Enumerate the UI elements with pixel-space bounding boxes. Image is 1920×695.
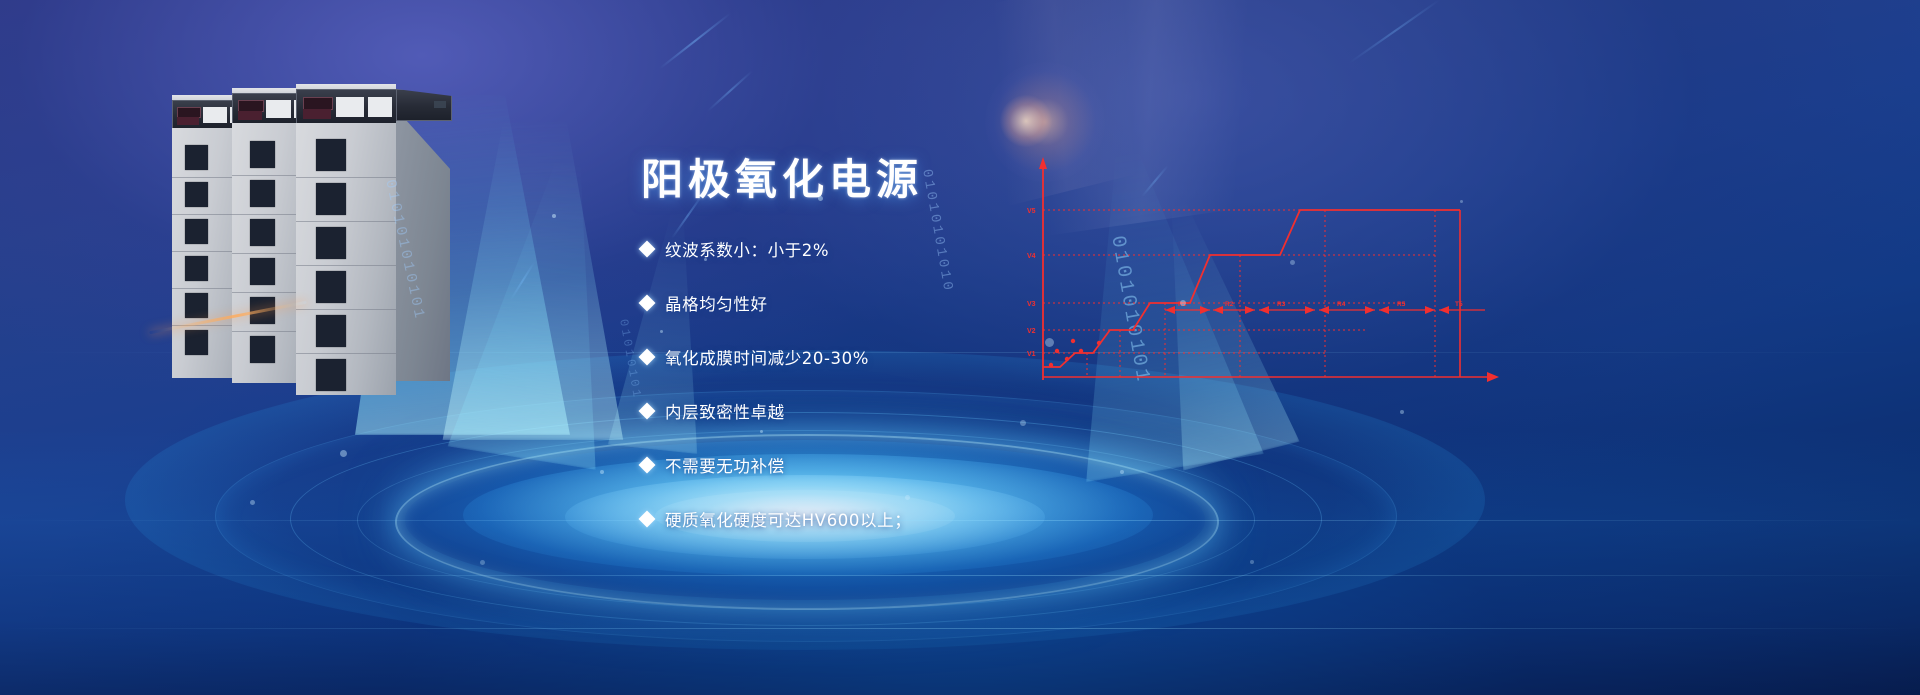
diamond-bullet-icon [639,403,656,420]
chart-ytick-v2: V2 [1027,328,1036,335]
chart-dim-r4: R4 [1337,301,1346,308]
particle [340,450,347,457]
diamond-bullet-icon [639,241,656,258]
chart-y-axis-arrow [1039,157,1047,169]
chart-svg: V5 V4 V3 V2 V1 [1015,155,1505,395]
page-title: 阳极氧化电源 [641,146,923,207]
chart-x-axis-arrow [1487,372,1499,382]
particle [600,470,604,474]
waveform-chart: V5 V4 V3 V2 V1 [1015,155,1505,395]
particle [552,214,556,218]
chart-dim-r3: R3 [1277,301,1286,308]
particle [480,560,485,565]
light-streak [510,261,536,300]
floor-line-3 [0,628,1920,629]
chart-dim-r1: R1 [1178,301,1187,308]
list-item-label: 硬质氧化硬度可达HV600以上； [665,507,911,531]
chart-step-series [1043,210,1460,367]
diamond-bullet-icon [639,295,656,312]
chart-ytick-v3: V3 [1027,301,1036,308]
list-item-label: 纹波系数小：小于2% [665,237,829,261]
light-flare-core-icon [1000,95,1052,147]
particle [1400,410,1404,414]
floor-line-2 [0,575,1920,576]
light-streak [1349,0,1440,63]
list-item: 硬质氧化硬度可达HV600以上； [641,506,1161,532]
chart-dim-r2: R2 [1225,301,1234,308]
chart-dim-t5: T5 [1455,301,1463,308]
particle [250,500,255,505]
list-item-label: 氧化成膜时间减少20-30% [665,345,869,369]
list-item: 内层致密性卓越 [641,398,1161,424]
chart-dim-r5: R5 [1397,301,1406,308]
chart-ytick-v1: V1 [1027,351,1036,358]
list-item-label: 不需要无功补偿 [665,453,785,477]
diamond-bullet-icon [639,457,656,474]
chart-ytick-v5: V5 [1027,208,1036,215]
cabinet-badge-icon [434,101,446,108]
list-item-label: 内层致密性卓越 [665,399,785,423]
light-streak [707,70,753,112]
power-cabinet-group [168,85,478,385]
particle [1250,560,1254,564]
list-item-label: 晶格均匀性好 [665,291,768,315]
diamond-bullet-icon [639,511,656,528]
list-item: 不需要无功补偿 [641,452,1161,478]
chart-ytick-v4: V4 [1027,253,1036,260]
diamond-bullet-icon [639,349,656,366]
banner-stage: 010101010101 01010101010 0101010101 0101… [0,0,1920,695]
light-streak [659,13,731,70]
